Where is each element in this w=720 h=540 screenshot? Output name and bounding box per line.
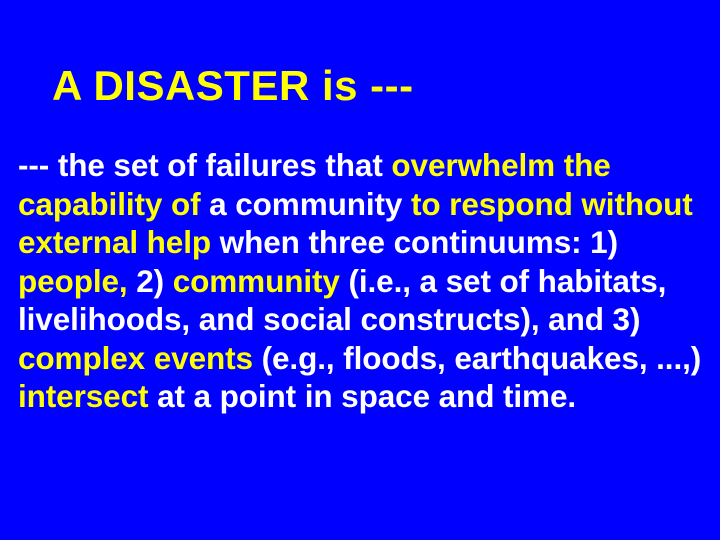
body-segment-11: intersect bbox=[18, 378, 148, 414]
body-segment-10: (e.g., floods, earthquakes, ...,) bbox=[253, 340, 701, 376]
presentation-slide: A DISASTER is --- --- the set of failure… bbox=[0, 0, 720, 540]
body-segment-9: complex events bbox=[18, 340, 253, 376]
body-segment-2: a community bbox=[201, 186, 412, 222]
body-segment-6: 2) bbox=[128, 263, 173, 299]
body-segment-7: community bbox=[173, 263, 340, 299]
body-segment-4: when three continuums: 1) bbox=[211, 224, 618, 260]
slide-title: A DISASTER is --- bbox=[52, 64, 414, 108]
body-segment-5: people, bbox=[18, 263, 128, 299]
body-segment-12: at a point in space and time. bbox=[148, 378, 576, 414]
slide-body-text: --- the set of failures that overwhelm t… bbox=[18, 146, 718, 416]
body-segment-0: --- the set of failures that bbox=[18, 147, 391, 183]
